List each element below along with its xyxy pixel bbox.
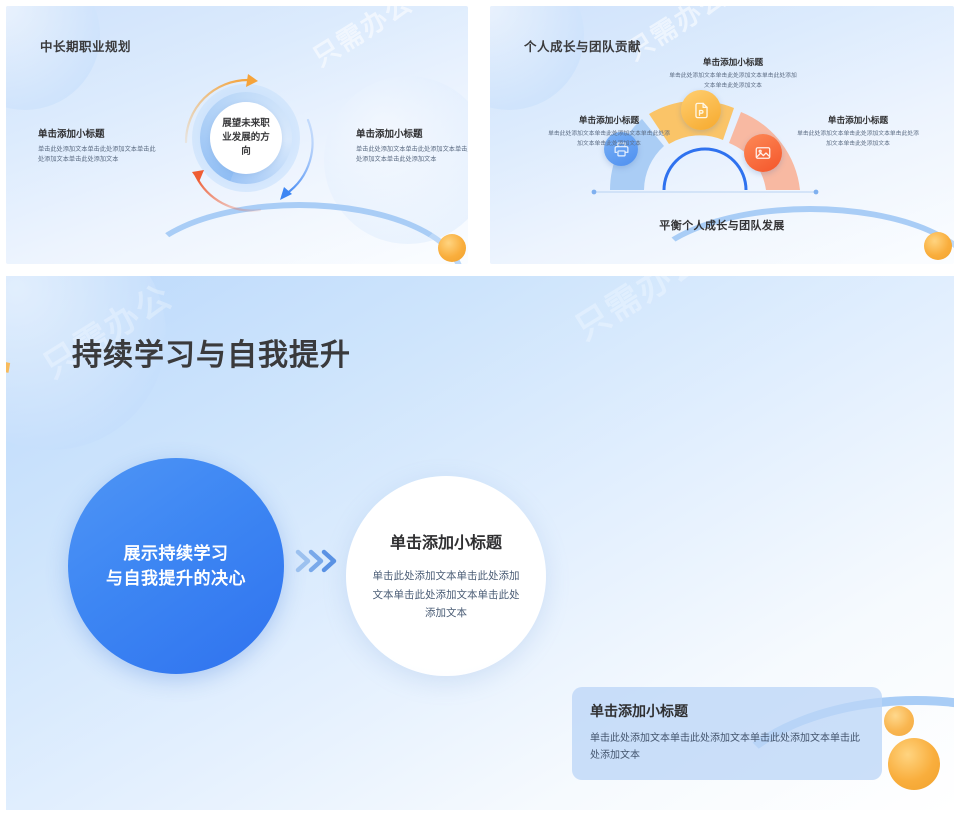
chevron-right-icon <box>294 548 340 574</box>
info-body: 单击此处添加文本单击此处添加文本单击此处添加文本单击此处添加文本 <box>356 145 468 165</box>
info-body: 单击此处添加文本单击此处添加文本单击此处添加文本单击此处添加文本 <box>548 130 670 150</box>
info-body: 单击此处添加文本单击此处添加文本单击此处添加文本单击此处添加文本 <box>668 72 798 92</box>
decor-blue-curve <box>134 202 464 264</box>
decor-orange-dot-small <box>884 706 914 736</box>
feature-heading: 单击添加小标题 <box>390 529 502 553</box>
image-icon[interactable] <box>744 134 782 172</box>
arch-caption: 平衡个人成长与团队发展 <box>490 217 954 233</box>
slide-continuous-learning[interactable]: 只需办公 只需办公 持续学习与自我提升 展示持续学习 与自我提升的决心 单击添加… <box>6 276 954 810</box>
info-heading: 单击添加小标题 <box>668 56 798 68</box>
page-title: 中长期职业规划 <box>40 36 131 55</box>
hero-line-1: 展示持续学习 <box>124 544 229 563</box>
decor-blue-curve <box>640 206 954 264</box>
feature-circle[interactable]: 单击添加小标题 单击此处添加文本单击此处添加文本单击此处添加文本单击此处添加文本 <box>346 476 546 676</box>
info-card-1[interactable]: 单击添加小标题 单击此处添加文本单击此处添加文本单击此处添加文本单击此处添加文本 <box>572 687 882 780</box>
decor-blob-top-left <box>490 6 584 110</box>
info-body: 单击此处添加文本单击此处添加文本单击此处添加文本单击此处添加文本 <box>38 145 160 165</box>
info-block-left[interactable]: 单击添加小标题 单击此处添加文本单击此处添加文本单击此处添加文本单击此处添加文本 <box>38 126 160 165</box>
page-title: 个人成长与团队贡献 <box>524 36 641 55</box>
info-heading: 单击添加小标题 <box>795 114 921 126</box>
info-block-right[interactable]: 单击添加小标题 单击此处添加文本单击此处添加文本单击此处添加文本单击此处添加文本 <box>795 114 921 150</box>
hero-line-2: 与自我提升的决心 <box>106 569 246 588</box>
info-block-left[interactable]: 单击添加小标题 单击此处添加文本单击此处添加文本单击此处添加文本单击此处添加文本 <box>548 114 670 150</box>
card-accent-dot <box>560 713 586 739</box>
slides-overview: 只需办公 中长期职业规划 展望未来职业发展的方向 <box>0 0 960 816</box>
feature-body: 单击此处添加文本单击此处添加文本单击此处添加文本单击此处添加文本 <box>371 567 521 622</box>
info-heading: 单击添加小标题 <box>38 126 160 140</box>
career-ring-diagram[interactable]: 展望未来职业发展的方向 <box>192 84 300 192</box>
hero-circle[interactable]: 展示持续学习 与自我提升的决心 <box>68 458 284 674</box>
presentation-file-icon[interactable] <box>681 90 721 130</box>
card-heading: 单击添加小标题 <box>590 701 864 721</box>
watermark-text-2: 只需办公 <box>564 276 712 349</box>
watermark-text: 只需办公 <box>305 6 420 74</box>
decor-orange-dot <box>924 232 952 260</box>
slide-growth-contribution[interactable]: 只需办公 个人成长与团队贡献 <box>490 6 954 264</box>
ring-center-text: 展望未来职业发展的方向 <box>219 117 273 158</box>
info-heading: 单击添加小标题 <box>356 126 468 140</box>
info-block-top[interactable]: 单击添加小标题 单击此处添加文本单击此处添加文本单击此处添加文本单击此处添加文本 <box>668 56 798 92</box>
decor-orange-dot-large <box>888 738 940 790</box>
card-body: 单击此处添加文本单击此处添加文本单击此处添加文本单击此处添加文本 <box>590 730 864 764</box>
slide-career-planning[interactable]: 只需办公 中长期职业规划 展望未来职业发展的方向 <box>6 6 468 264</box>
hero-circle-text: 展示持续学习 与自我提升的决心 <box>106 541 246 592</box>
ring-center-label: 展望未来职业发展的方向 <box>210 102 282 174</box>
info-block-right[interactable]: 单击添加小标题 单击此处添加文本单击此处添加文本单击此处添加文本单击此处添加文本 <box>356 126 468 165</box>
info-body: 单击此处添加文本单击此处添加文本单击此处添加文本单击此处添加文本 <box>795 130 921 150</box>
page-title: 持续学习与自我提升 <box>72 330 351 374</box>
decor-orange-dot <box>438 234 466 262</box>
info-heading: 单击添加小标题 <box>548 114 670 126</box>
decor-blob-top-left <box>6 6 100 110</box>
